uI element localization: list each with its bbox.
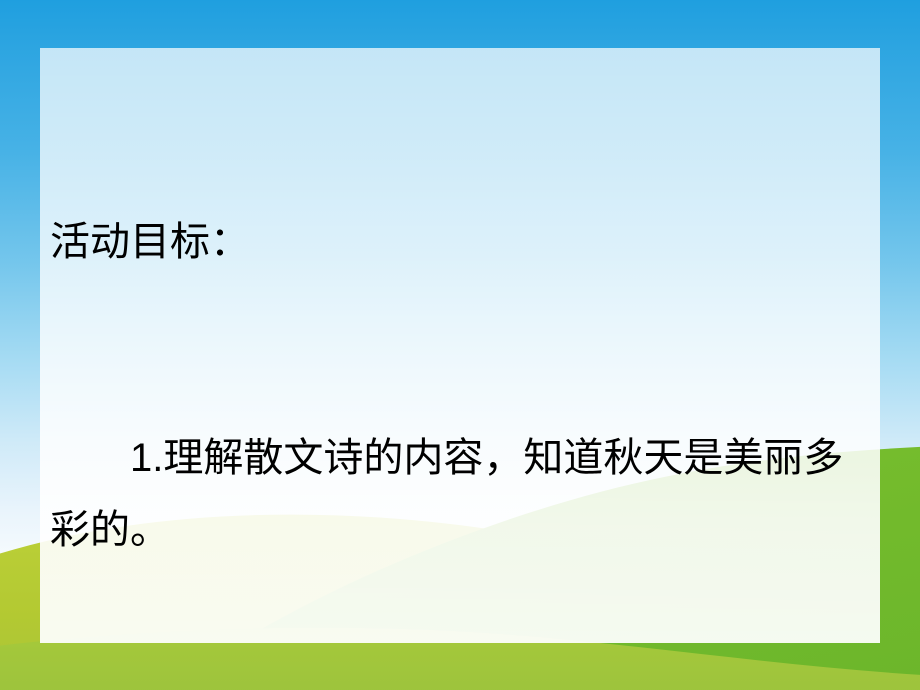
goal-item-1: 1.理解散文诗的内容，知道秋天是美丽多彩的。 <box>50 422 880 566</box>
page-title: 活动目标： <box>50 206 880 278</box>
slide-canvas: 活动目标： 1.理解散文诗的内容，知道秋天是美丽多彩的。 2.能根据诗歌的句式结… <box>0 0 920 690</box>
content-panel: 活动目标： 1.理解散文诗的内容，知道秋天是美丽多彩的。 2.能根据诗歌的句式结… <box>40 48 880 643</box>
content-panel-inner: 活动目标： 1.理解散文诗的内容，知道秋天是美丽多彩的。 2.能根据诗歌的句式结… <box>40 48 880 643</box>
goals-text-block: 活动目标： 1.理解散文诗的内容，知道秋天是美丽多彩的。 2.能根据诗歌的句式结… <box>50 62 880 690</box>
